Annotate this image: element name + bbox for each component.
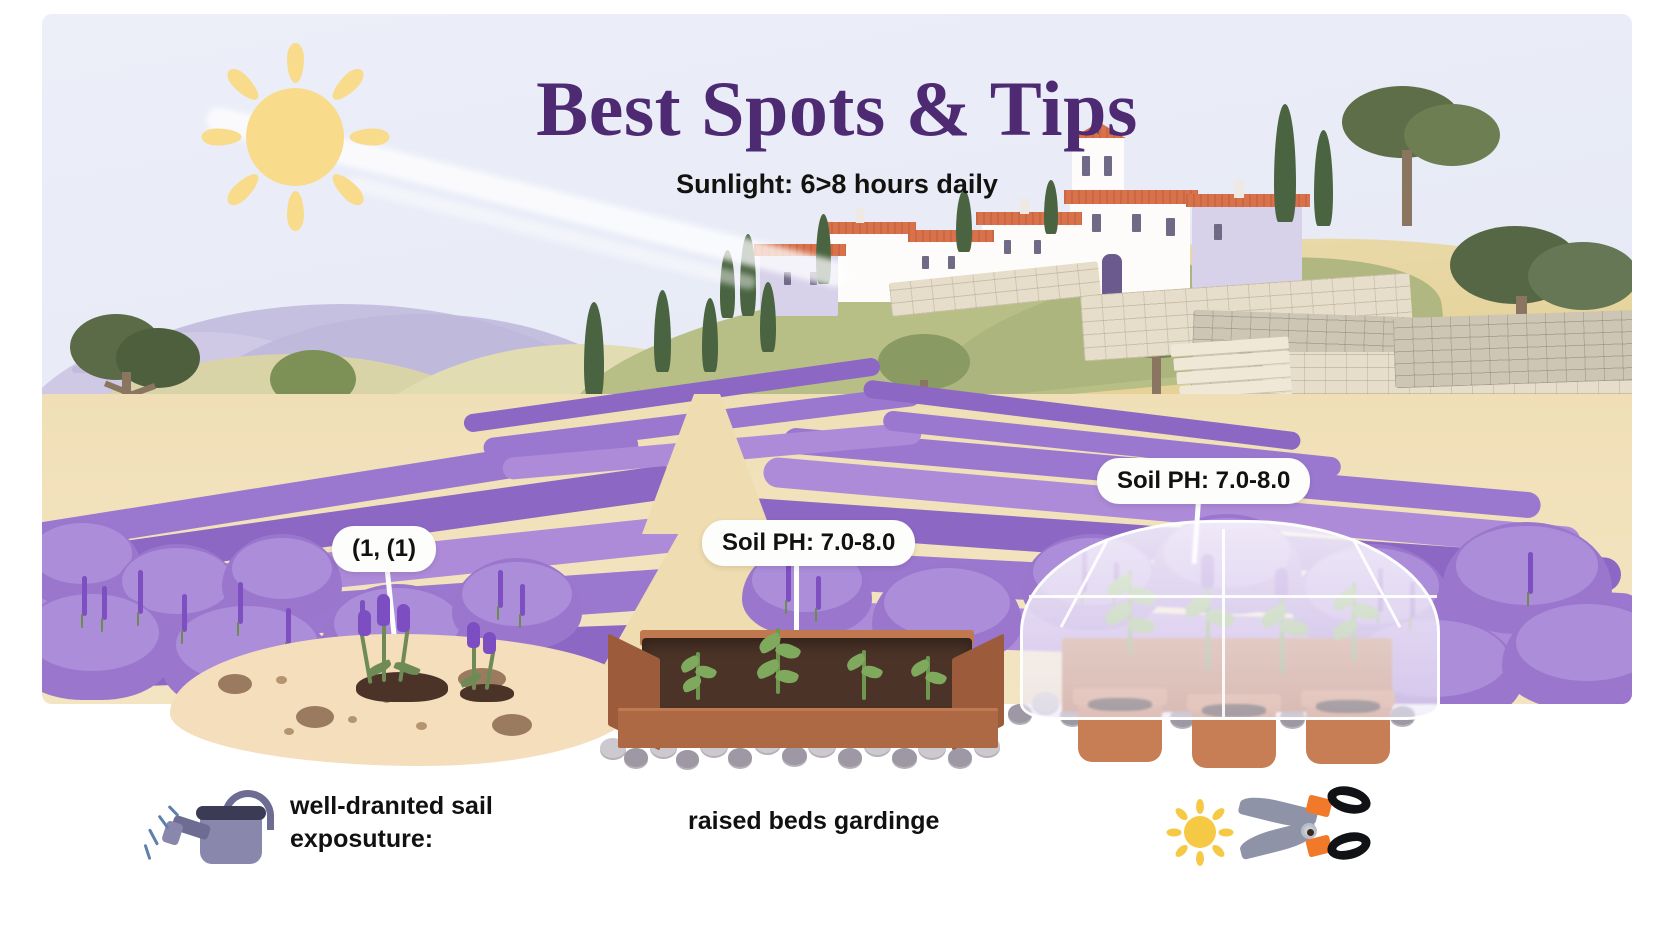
chimney — [856, 208, 864, 223]
window — [922, 256, 929, 269]
church-door — [1102, 254, 1122, 294]
pebble — [348, 716, 357, 723]
vignette-greenhouse — [1000, 520, 1470, 790]
callout-left[interactable]: (1, (1) — [332, 526, 436, 572]
chimney — [1020, 198, 1029, 214]
stone — [676, 750, 699, 768]
sun-icon-small — [1168, 800, 1232, 864]
lavender-flower — [483, 632, 496, 654]
sun-ray — [1196, 851, 1204, 866]
pebble — [416, 722, 427, 730]
vignette-well-drained-soil — [170, 610, 640, 770]
pruning-shears-icon — [1245, 795, 1375, 865]
pebble — [284, 728, 294, 735]
pebble — [276, 676, 287, 684]
pebble — [492, 714, 532, 736]
sun-ray — [1210, 842, 1226, 858]
greenhouse-cover — [1020, 520, 1440, 720]
caption-middle: raised beds gardinge — [688, 805, 1108, 838]
shear-pivot — [1301, 823, 1317, 839]
terrace-wall — [1393, 310, 1632, 389]
window — [948, 256, 955, 269]
stone — [624, 748, 648, 767]
shear-handle — [1325, 828, 1374, 864]
lavender-spike — [138, 570, 143, 614]
water-drop — [168, 805, 180, 817]
window — [1034, 240, 1041, 254]
house-roof — [824, 222, 916, 234]
lavender-spike — [102, 586, 107, 620]
page-subtitle: Sunlight: 6>8 hours daily — [42, 169, 1632, 200]
sun-ray — [1173, 842, 1189, 858]
caption-left: well-dranıted sail exposuture: — [290, 790, 610, 855]
sun-ray — [1219, 828, 1234, 836]
window — [1214, 224, 1222, 240]
stone — [892, 748, 917, 767]
bed-front-panel — [618, 708, 998, 748]
house-roof — [976, 212, 1082, 225]
callout-middle[interactable]: Soil PH: 7.0-8.0 — [702, 520, 915, 566]
watering-can-icon — [160, 790, 280, 868]
lavender-flower — [358, 610, 371, 636]
pebble — [218, 674, 252, 694]
lavender-spike — [1528, 552, 1533, 594]
cypress-tree — [654, 290, 671, 372]
stone — [838, 748, 862, 767]
can-top — [196, 806, 266, 820]
lavender-spike — [498, 570, 503, 608]
sun-ray — [1173, 805, 1189, 821]
greenhouse-rib — [1029, 595, 1437, 598]
water-drop — [144, 844, 152, 860]
vignette-raised-bed — [600, 620, 1020, 780]
lavender-spike — [816, 576, 821, 610]
window — [1132, 214, 1141, 232]
cypress-tree — [702, 298, 718, 372]
infographic-canvas: Best Spots & Tips Sunlight: 6>8 hours da… — [0, 0, 1664, 928]
lavender-flower — [397, 604, 410, 632]
lavender-stem — [382, 620, 386, 682]
sun-ray — [1210, 805, 1226, 821]
lavender-flower — [467, 622, 480, 648]
window — [1004, 240, 1011, 254]
lavender-spike — [82, 576, 87, 616]
tree-crown — [1528, 242, 1632, 310]
sun-core — [1184, 816, 1216, 848]
greenhouse-rib — [1352, 538, 1402, 628]
window — [1092, 214, 1101, 232]
callout-right[interactable]: Soil PH: 7.0-8.0 — [1097, 458, 1310, 504]
caption-left-line1: well-dranıted sail — [290, 790, 610, 823]
sun-ray — [1167, 828, 1182, 836]
caption-left-line2: exposuture: — [290, 823, 610, 856]
caption-middle-line1: raised beds gardinge — [688, 805, 1108, 838]
water-drop — [148, 828, 159, 845]
cypress-tree — [584, 302, 604, 398]
stone — [948, 748, 972, 767]
lavender-flower — [377, 594, 390, 626]
lavender-spike — [786, 562, 791, 602]
greenhouse-rib — [1060, 538, 1110, 628]
greenhouse-rib — [1222, 529, 1225, 719]
sun-ray — [1196, 799, 1204, 814]
stone — [782, 746, 807, 765]
stone — [728, 748, 752, 767]
page-title: Best Spots & Tips — [42, 64, 1632, 154]
pebble — [296, 706, 334, 728]
window — [1166, 218, 1175, 236]
